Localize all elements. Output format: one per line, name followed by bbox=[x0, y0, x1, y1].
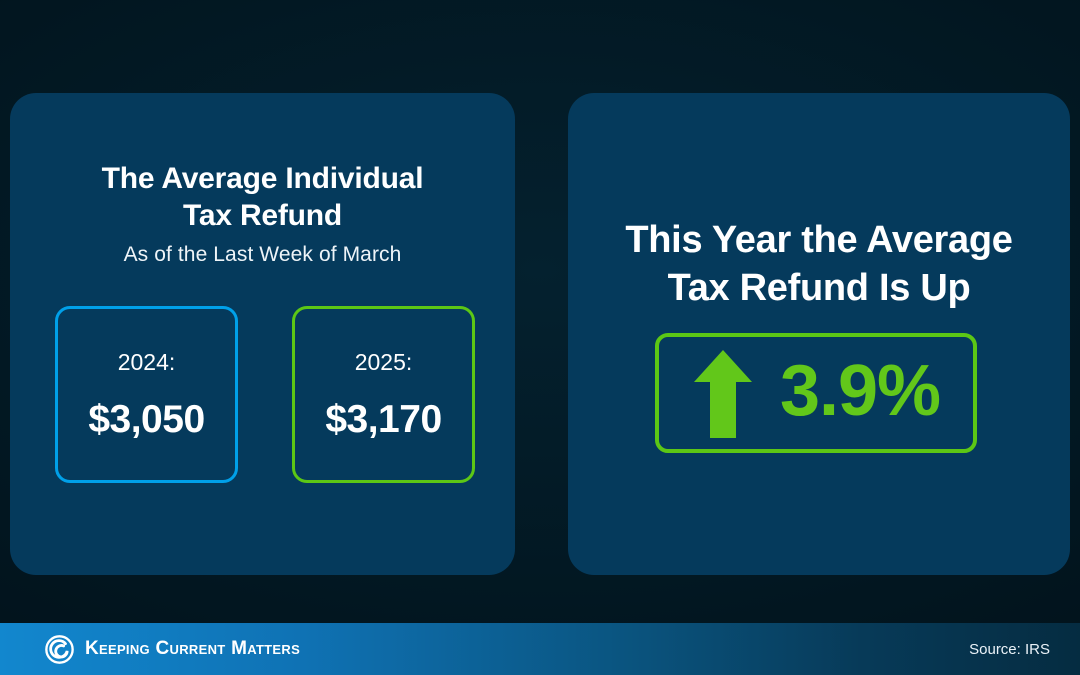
percent-change-value: 3.9% bbox=[780, 355, 940, 427]
right-panel-title: This Year the Average Tax Refund Is Up bbox=[568, 216, 1070, 313]
left-panel: The Average Individual Tax Refund As of … bbox=[10, 93, 515, 575]
infographic-slide: The Average Individual Tax Refund As of … bbox=[0, 0, 1080, 675]
stat-year-label-2025: 2025: bbox=[355, 351, 413, 374]
brand-lockup: Keeping Current Matters bbox=[45, 635, 300, 664]
stat-box-2025: 2025: $3,170 bbox=[292, 306, 475, 483]
stat-box-2024: 2024: $3,050 bbox=[55, 306, 238, 483]
source-attribution: Source: IRS bbox=[969, 641, 1050, 658]
keeping-current-matters-logo-icon bbox=[45, 635, 74, 664]
right-panel: This Year the Average Tax Refund Is Up 3… bbox=[568, 93, 1070, 575]
arrow-up-icon bbox=[692, 348, 754, 440]
percent-change-box: 3.9% bbox=[655, 333, 977, 453]
stat-value-2024: $3,050 bbox=[88, 400, 204, 439]
stat-year-label-2024: 2024: bbox=[118, 351, 176, 374]
left-panel-title: The Average Individual Tax Refund bbox=[10, 161, 515, 234]
left-panel-title-line2: Tax Refund bbox=[183, 199, 342, 232]
right-panel-title-line1: This Year the Average bbox=[625, 219, 1012, 261]
left-panel-title-line1: The Average Individual bbox=[102, 162, 424, 195]
brand-name-label: Keeping Current Matters bbox=[85, 638, 300, 660]
stat-box-row: 2024: $3,050 2025: $3,170 bbox=[55, 306, 475, 483]
stat-value-2025: $3,170 bbox=[325, 400, 441, 439]
right-panel-title-line2: Tax Refund Is Up bbox=[668, 267, 971, 309]
left-panel-subtitle: As of the Last Week of March bbox=[10, 243, 515, 267]
footer-bar: Keeping Current Matters Source: IRS bbox=[0, 623, 1080, 675]
